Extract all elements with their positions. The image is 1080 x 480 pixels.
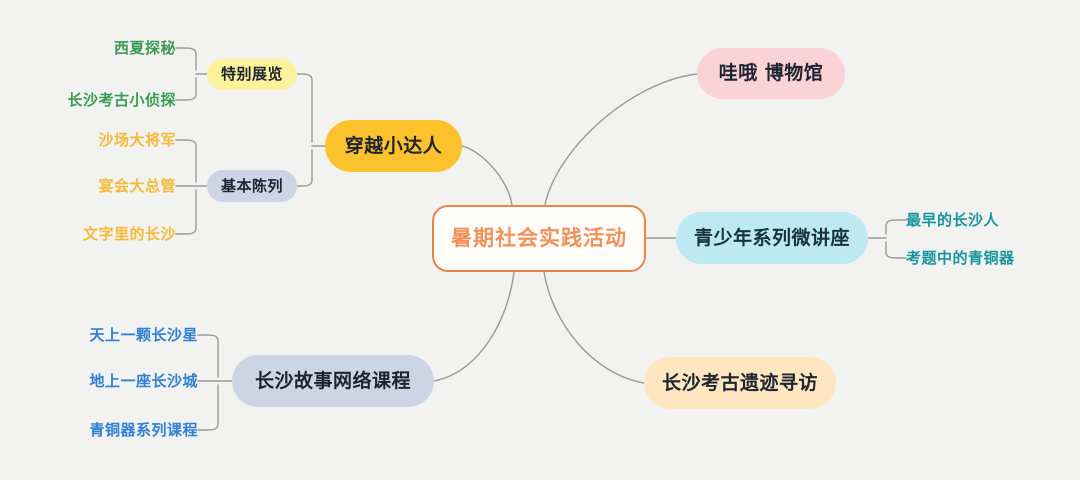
edge-chuanyue-bracket-bottom [297,180,312,186]
leaf-qingtongqi-xilie-kecheng-label: 青铜器系列课程 [89,423,198,438]
leaf-shachang-dajiangjun[interactable]: 沙场大将军 [26,128,176,152]
leaf-tianshang-yike-changshaxing[interactable]: 天上一颗长沙星 [48,323,198,347]
branch-node-changsha-gushi-wangluo-kecheng[interactable]: 长沙故事网络课程 [232,355,434,407]
edge-chuanyue-bracket-top [297,74,312,80]
leaf-yanhui-dazongguan[interactable]: 宴会大总管 [26,174,176,198]
edge-qingshaonian-bracket [886,220,906,258]
leaf-shachang-dajiangjun-label: 沙场大将军 [98,133,176,148]
leaf-yanhui-dazongguan-label: 宴会大总管 [98,179,176,194]
leaf-dishang-yizuo-changshacheng[interactable]: 地上一座长沙城 [48,369,198,393]
edge-wangluo-bracket [198,335,218,430]
branch-node-kaogu-yiji-xunfang[interactable]: 长沙考古遗迹寻访 [644,357,836,409]
branch-node-changsha-gushi-wangluo-kecheng-label: 长沙故事网络课程 [255,372,411,391]
edge-root-to-wao [545,74,697,205]
sub-node-tebie-zhanlan-label: 特别展览 [221,67,283,82]
branch-node-chuanyue-label: 穿越小达人 [345,137,443,156]
branch-node-qingshaonian-jiangzuo[interactable]: 青少年系列微讲座 [676,212,868,264]
edge-root-to-chuanyue [462,146,512,205]
branch-node-wao-bowuguan[interactable]: 哇哦 博物馆 [697,48,845,99]
root-node[interactable]: 暑期社会实践活动 [432,205,646,272]
mindmap-canvas: 暑期社会实践活动 穿越小达人 特别展览 西夏探秘 长沙考古小侦探 基本陈列 沙场… [0,0,1080,480]
leaf-tianshang-yike-changshaxing-label: 天上一颗长沙星 [89,328,198,343]
root-node-label: 暑期社会实践活动 [451,228,627,249]
leaf-changsha-kaogu-xiaozhentan[interactable]: 长沙考古小侦探 [26,88,176,112]
leaf-wenzi-li-de-changsha-label: 文字里的长沙 [83,227,176,242]
branch-node-wao-bowuguan-label: 哇哦 博物馆 [719,64,824,83]
leaf-xixia-tanmi-label: 西夏探秘 [114,41,176,56]
edge-root-to-kaogu [544,272,644,383]
edge-tebie-bracket [176,48,196,100]
leaf-kaoti-zhong-de-qingtongqi-label: 考题中的青铜器 [906,251,1015,266]
sub-node-tebie-zhanlan[interactable]: 特别展览 [207,59,297,90]
leaf-zuizao-de-changsharen[interactable]: 最早的长沙人 [906,208,1066,232]
leaf-xixia-tanmi[interactable]: 西夏探秘 [26,36,176,60]
edge-root-to-wangluo [434,272,514,381]
branch-node-chuanyue[interactable]: 穿越小达人 [325,120,462,172]
edge-jiben-bracket [176,140,196,234]
sub-node-jiben-chenlie[interactable]: 基本陈列 [207,170,297,202]
leaf-kaoti-zhong-de-qingtongqi[interactable]: 考题中的青铜器 [906,246,1066,270]
leaf-wenzi-li-de-changsha[interactable]: 文字里的长沙 [26,222,176,246]
branch-node-kaogu-yiji-xunfang-label: 长沙考古遗迹寻访 [662,374,818,393]
branch-node-qingshaonian-jiangzuo-label: 青少年系列微讲座 [694,229,850,248]
leaf-zuizao-de-changsharen-label: 最早的长沙人 [906,213,999,228]
leaf-qingtongqi-xilie-kecheng[interactable]: 青铜器系列课程 [48,418,198,442]
sub-node-jiben-chenlie-label: 基本陈列 [221,179,283,194]
leaf-changsha-kaogu-xiaozhentan-label: 长沙考古小侦探 [67,93,176,108]
leaf-dishang-yizuo-changshacheng-label: 地上一座长沙城 [89,374,198,389]
